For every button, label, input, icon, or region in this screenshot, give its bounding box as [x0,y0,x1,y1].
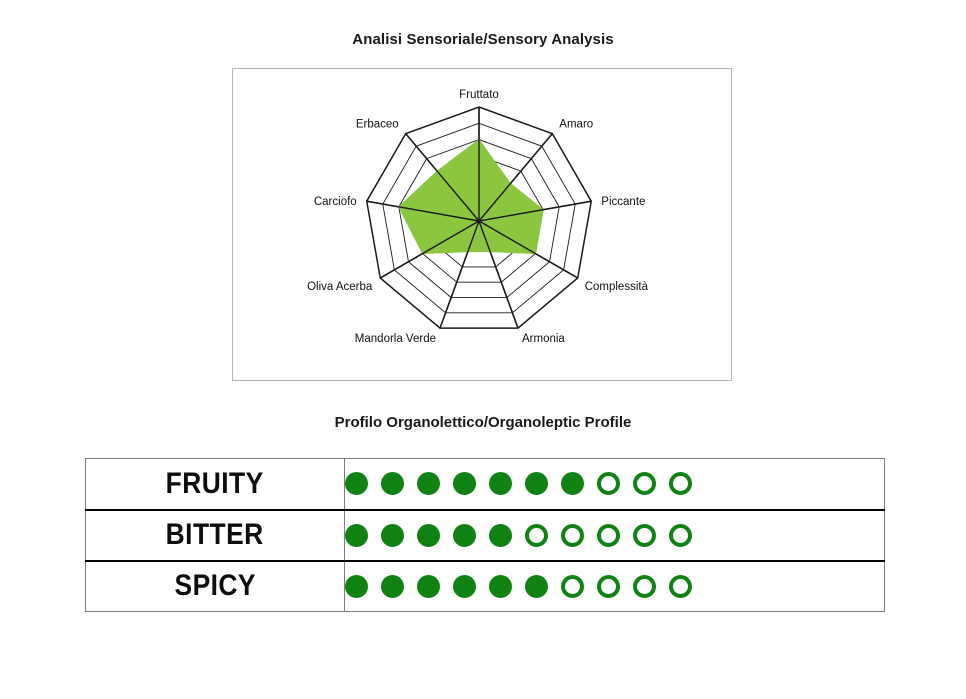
attribute-cell-spicy: SPICY [86,561,345,612]
attribute-label: BITTER [166,518,264,552]
attribute-cell-bitter: BITTER [86,510,345,561]
dot-filled-icon [453,524,476,547]
intensity-scale-spicy [345,561,885,612]
dot-empty-icon [597,472,620,495]
dot-filled-icon [453,472,476,495]
dot-empty-icon [669,472,692,495]
radar-chart-frame: FruttatoAmaroPiccanteComplessitàArmoniaM… [232,68,732,381]
dots-row [345,472,884,495]
attribute-label: FRUITY [166,467,264,501]
radar-chart: FruttatoAmaroPiccanteComplessitàArmoniaM… [233,69,731,380]
dot-filled-icon [417,524,440,547]
radar-axis-label-fruttato: Fruttato [459,89,499,101]
intensity-scale-fruity [345,459,885,510]
organoleptic-profile-table: FRUITYBITTERSPICY [85,458,885,612]
dot-filled-icon [381,524,404,547]
organoleptic-profile-title: Profilo Organolettico/Organoleptic Profi… [0,414,966,431]
attribute-label: SPICY [174,569,255,603]
dot-filled-icon [345,472,368,495]
table-row: BITTER [86,510,885,561]
dot-filled-icon [417,575,440,598]
dot-empty-icon [561,575,584,598]
dot-filled-icon [489,575,512,598]
dot-filled-icon [525,472,548,495]
dot-empty-icon [669,575,692,598]
dot-filled-icon [453,575,476,598]
dot-filled-icon [525,575,548,598]
dot-filled-icon [345,524,368,547]
table-row: SPICY [86,561,885,612]
dots-row [345,524,884,547]
radar-axis-label-armonia: Armonia [522,333,565,345]
intensity-scale-bitter [345,510,885,561]
radar-axis-label-piccante: Piccante [601,196,645,208]
radar-axis-label-erbaceo: Erbaceo [356,119,399,131]
dot-empty-icon [633,524,656,547]
dot-filled-icon [345,575,368,598]
dot-filled-icon [381,472,404,495]
dot-empty-icon [633,575,656,598]
dot-empty-icon [597,575,620,598]
sensory-analysis-title: Analisi Sensoriale/Sensory Analysis [0,31,966,48]
table-row: FRUITY [86,459,885,510]
dot-empty-icon [597,524,620,547]
dot-filled-icon [489,472,512,495]
dot-empty-icon [525,524,548,547]
dot-empty-icon [669,524,692,547]
dot-filled-icon [489,524,512,547]
attribute-cell-fruity: FRUITY [86,459,345,510]
radar-axis-label-complessità: Complessità [585,281,649,293]
radar-series-profilo [399,140,543,254]
radar-axis-label-carciofo: Carciofo [314,196,357,208]
dot-filled-icon [561,472,584,495]
radar-axis-label-mandorla-verde: Mandorla Verde [355,333,436,345]
radar-axis-label-amaro: Amaro [559,119,593,131]
dots-row [345,575,884,598]
dot-empty-icon [561,524,584,547]
dot-filled-icon [381,575,404,598]
radar-axis-label-oliva-acerba: Oliva Acerba [307,281,373,293]
dot-empty-icon [633,472,656,495]
dot-filled-icon [417,472,440,495]
